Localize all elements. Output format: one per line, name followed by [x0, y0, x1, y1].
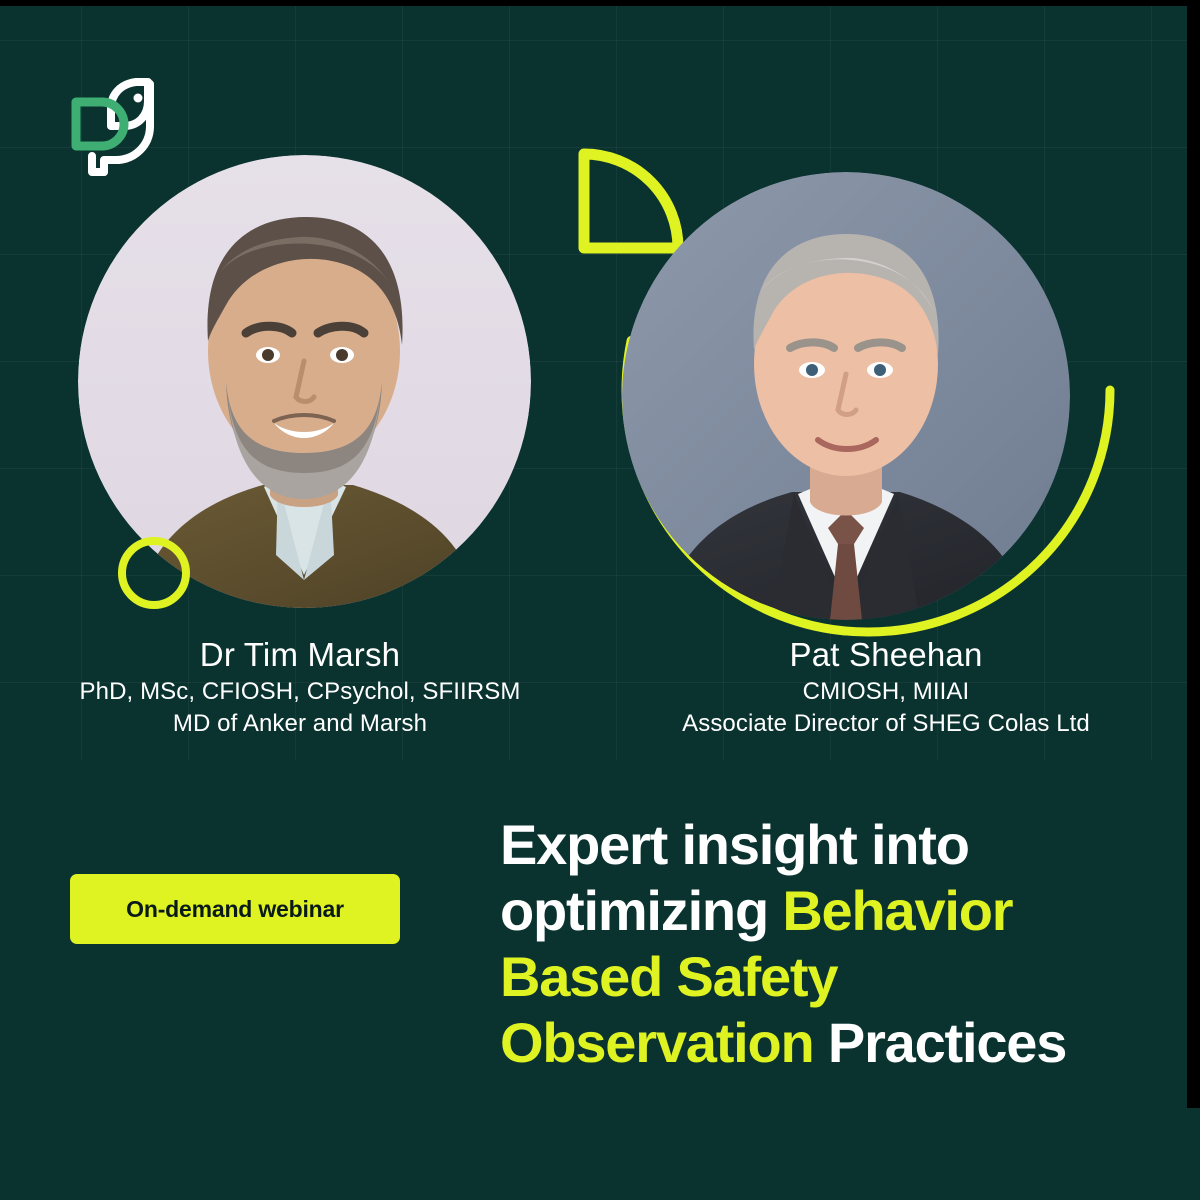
speaker-role: MD of Anker and Marsh	[14, 708, 586, 740]
speaker-credentials: PhD, MSc, CFIOSH, CPsychol, SFIIRSM	[14, 676, 586, 708]
on-demand-webinar-badge[interactable]: On-demand webinar	[70, 874, 400, 944]
small-ring-outline	[118, 537, 190, 609]
headline-part-2-accent: Behavior	[782, 879, 1012, 942]
right-bleed-strip	[1187, 0, 1200, 1108]
headline-part-4-plain: Practices	[814, 1011, 1067, 1074]
speaker-caption-pat-sheehan: Pat Sheehan CMIOSH, MIIAI Associate Dire…	[586, 636, 1186, 739]
quarter-circle-outline	[578, 148, 684, 254]
bird-leaf-logo	[66, 74, 168, 178]
headline-part-1: Expert insight into	[500, 813, 969, 876]
speaker-name: Dr Tim Marsh	[14, 636, 586, 675]
speaker-caption-tim-marsh: Dr Tim Marsh PhD, MSc, CFIOSH, CPsychol,…	[0, 636, 600, 739]
headline-part-3-accent: Based Safety	[500, 945, 837, 1008]
speaker-name: Pat Sheehan	[600, 636, 1172, 675]
headline: Expert insight into optimizing Behavior …	[500, 812, 1140, 1076]
promo-canvas: Dr Tim Marsh PhD, MSc, CFIOSH, CPsychol,…	[0, 0, 1200, 1200]
speakers-caption-row: Dr Tim Marsh PhD, MSc, CFIOSH, CPsychol,…	[0, 636, 1200, 739]
headline-part-2-plain: optimizing	[500, 879, 782, 942]
speaker-credentials: CMIOSH, MIIAI	[600, 676, 1172, 708]
speaker-photo-pat-sheehan	[622, 172, 1070, 620]
headline-part-4-accent: Observation	[500, 1011, 814, 1074]
top-bleed-strip	[0, 0, 1200, 6]
badge-label: On-demand webinar	[126, 896, 344, 923]
speaker-role: Associate Director of SHEG Colas Ltd	[600, 708, 1172, 740]
